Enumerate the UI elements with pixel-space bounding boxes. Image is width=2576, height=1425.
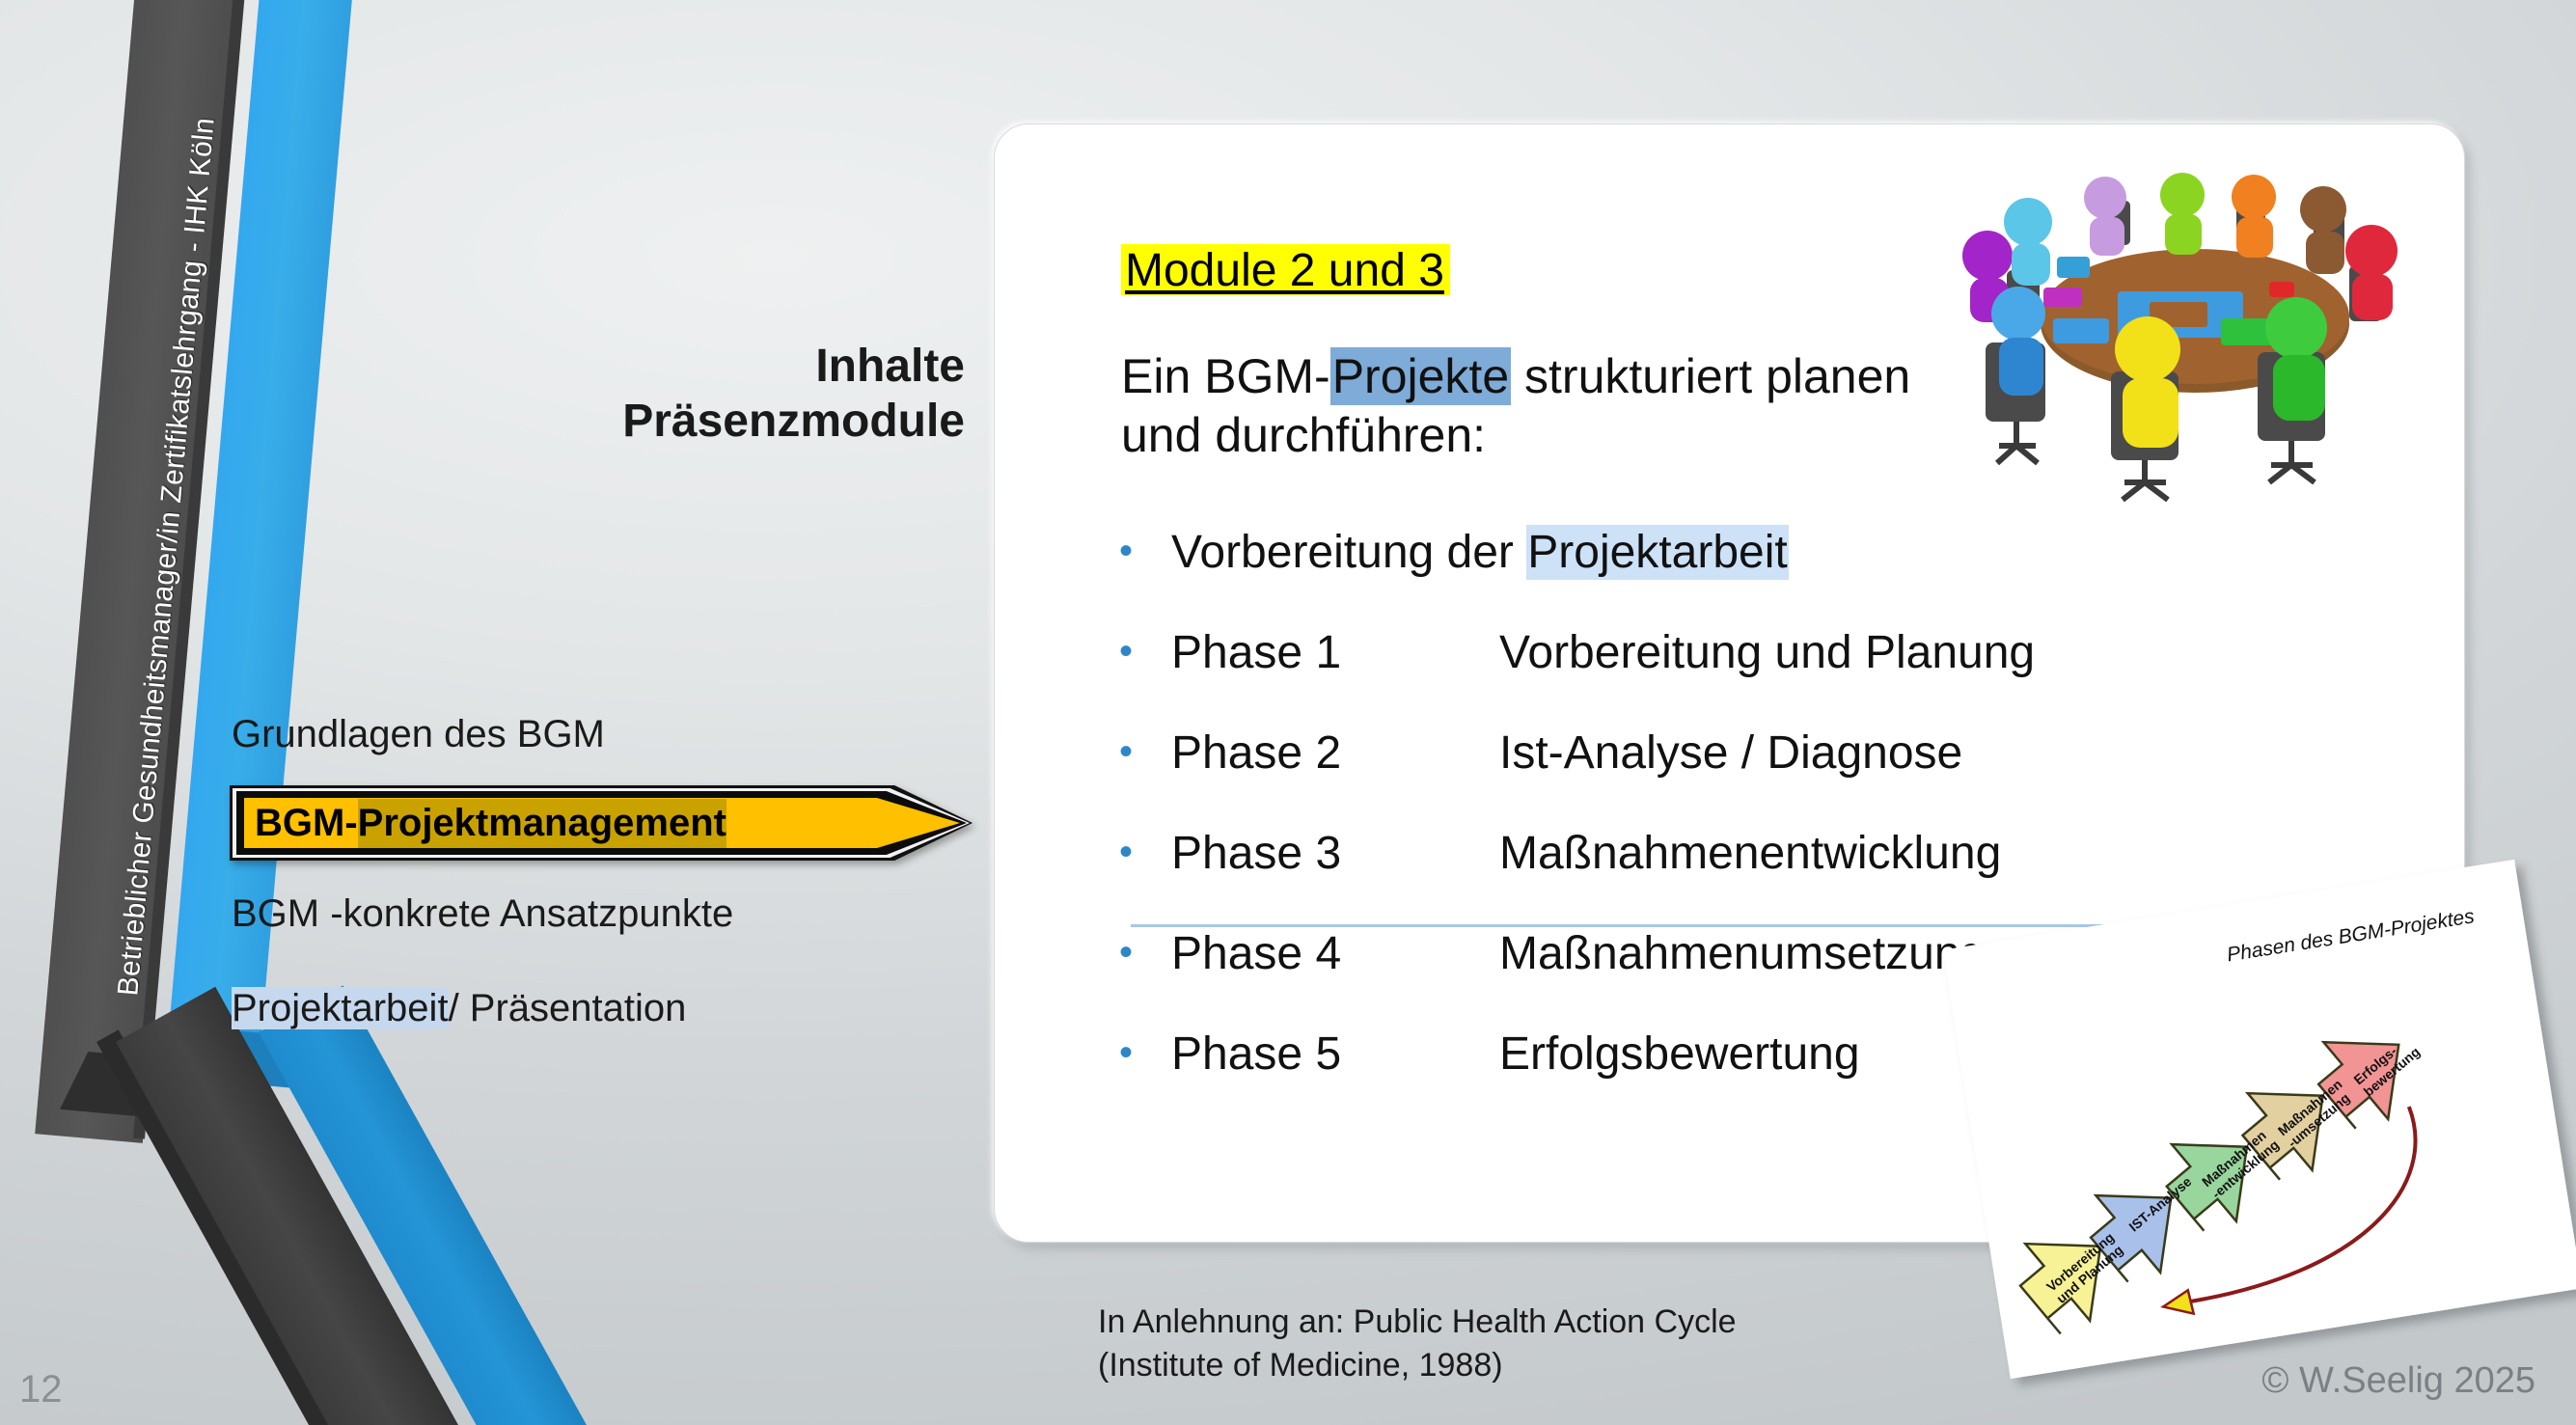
phase-label: Phase 1 — [1171, 626, 1499, 679]
list-item-phase-1: • Phase 1 Vorbereitung und Planung — [1119, 626, 2402, 726]
source-note-line2: (Institute of Medicine, 1988) — [1098, 1344, 1737, 1387]
phases-diagram-image: Phasen des BGM-Projektes Vorbereitung un… — [1942, 860, 2576, 1379]
intro-before: Ein BGM- — [1121, 349, 1330, 403]
sidebar-item-grundlagen[interactable]: Grundlagen des BGM — [232, 687, 1003, 781]
module-label-plain: / Präsentation — [449, 989, 687, 1028]
phase-value: Maßnahmenumsetzung — [1499, 927, 1986, 980]
intro-highlighted: Projekte — [1330, 347, 1511, 405]
card-intro-paragraph: Ein BGM-Projekte strukturiert planen und… — [1121, 347, 1922, 465]
source-note-line1: In Anlehnung an: Public Health Action Cy… — [1098, 1301, 1737, 1344]
page-title-line1: Inhalte — [232, 340, 965, 395]
sidebar-item-ansatzpunkte[interactable]: BGM -konkrete Ansatzpunkte — [232, 866, 1003, 961]
module-label-active: BGM-Projektmanagement — [255, 785, 726, 861]
list-item-text: Vorbereitung der Projektarbeit — [1171, 526, 1789, 579]
module-navigation-list: Grundlagen des BGM BGM-Projektmanagement… — [232, 687, 1003, 1055]
module-label-highlighted: Projektarbeit — [232, 987, 449, 1029]
bullet-dot-icon: • — [1119, 933, 1171, 972]
card-heading-text: Module 2 und 3 — [1125, 245, 1444, 296]
phase-label: Phase 2 — [1171, 726, 1499, 780]
bullet-highlighted: Projektarbeit — [1526, 525, 1788, 580]
phase-label: Phase 5 — [1171, 1028, 1499, 1081]
bullet-dot-icon: • — [1119, 532, 1171, 570]
bullet-dot-icon: • — [1119, 632, 1171, 671]
bullet-dot-icon: • — [1119, 1033, 1171, 1072]
sidebar-item-projektarbeit[interactable]: Projektarbeit / Präsentation — [232, 961, 1003, 1055]
source-note: In Anlehnung an: Public Health Action Cy… — [1098, 1301, 1737, 1387]
card-heading: Module 2 und 3 — [1121, 244, 1450, 295]
bullet-before: Vorbereitung der — [1171, 527, 1526, 578]
sidebar-item-projektmanagement-active[interactable]: BGM-Projektmanagement — [230, 785, 973, 861]
bullet-dot-icon: • — [1119, 732, 1171, 771]
copyright-text: © W.Seelig 2025 — [2261, 1360, 2535, 1402]
bullet-dot-icon: • — [1119, 833, 1171, 871]
phase-label: Phase 4 — [1171, 927, 1499, 980]
page-number: 12 — [19, 1368, 63, 1411]
phase-value: Maßnahmenentwicklung — [1499, 827, 2001, 880]
page-title-line2: Präsenzmodule — [232, 395, 965, 450]
page-title: Inhalte Präsenzmodule — [232, 340, 965, 449]
phase-value: Erfolgsbewertung — [1499, 1028, 1860, 1081]
phase-value: Vorbereitung und Planung — [1499, 626, 2035, 679]
module-label: Grundlagen des BGM — [232, 715, 605, 754]
teamwork-meeting-image — [1959, 164, 2422, 511]
slide-canvas: Betrieblicher Gesundheitsmanager/in Zert… — [0, 0, 2576, 1425]
phase-label: Phase 3 — [1171, 827, 1499, 880]
list-item-phase-2: • Phase 2 Ist-Analyse / Diagnose — [1119, 726, 2402, 827]
list-item-vorbereitung: • Vorbereitung der Projektarbeit — [1119, 526, 2402, 626]
phase-value: Ist-Analyse / Diagnose — [1499, 726, 1962, 780]
module-label-highlighted: Projektmanagement — [358, 799, 726, 848]
module-label-plain: BGM- — [255, 802, 358, 845]
module-label: BGM -konkrete Ansatzpunkte — [232, 894, 733, 933]
